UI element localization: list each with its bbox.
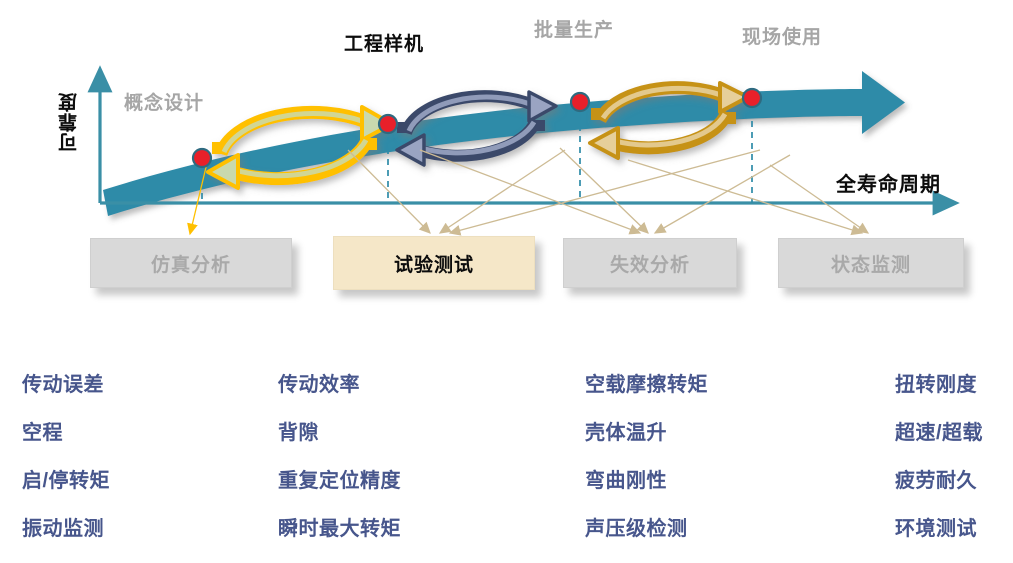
attribute-item: 疲劳耐久 (895, 464, 977, 493)
attribute-grid: 传动误差 空程 启/停转矩 振动监测 传动效率 背隙 重复定位精度 瞬时最大转矩… (0, 340, 1013, 563)
process-box-label: 试验测试 (394, 250, 474, 277)
process-box-label: 状态监测 (831, 250, 911, 277)
attribute-item: 传动效率 (278, 368, 360, 397)
attribute-item: 启/停转矩 (22, 464, 110, 493)
attribute-item: 扭转刚度 (895, 368, 977, 397)
process-box-simulation-analysis[interactable]: 仿真分析 (90, 238, 292, 288)
attribute-item: 背隙 (278, 416, 319, 445)
attribute-item: 环境测试 (895, 512, 977, 541)
attribute-item: 弯曲刚性 (585, 464, 667, 493)
attribute-item: 空程 (22, 416, 63, 445)
stage-label-field-use: 现场使用 (742, 22, 822, 49)
x-axis-label: 全寿命周期 (836, 168, 941, 197)
attribute-item: 声压级检测 (585, 512, 688, 541)
attribute-item: 重复定位精度 (278, 464, 401, 493)
stage-label-concept-design: 概念设计 (124, 88, 204, 115)
y-axis-label: 可靠度 (56, 92, 83, 152)
attribute-item: 传动误差 (22, 368, 104, 397)
attribute-item: 振动监测 (22, 512, 104, 541)
stage-label-mass-production: 批量生产 (534, 15, 614, 42)
process-box-condition-monitoring[interactable]: 状态监测 (778, 238, 964, 288)
slide-canvas: 可靠度 全寿命周期 概念设计 工程样机 批量生产 现场使用 仿真分析 试验测试 … (0, 0, 1013, 563)
process-box-experimental-testing[interactable]: 试验测试 (333, 236, 535, 290)
attribute-item: 瞬时最大转矩 (278, 512, 401, 541)
process-box-label: 失效分析 (610, 250, 690, 277)
stage-label-engineering-prototype: 工程样机 (344, 29, 424, 56)
attribute-item: 壳体温升 (585, 416, 667, 445)
process-box-failure-analysis[interactable]: 失效分析 (563, 238, 737, 288)
process-box-label: 仿真分析 (151, 250, 231, 277)
attribute-item: 超速/超载 (895, 416, 983, 445)
attribute-item: 空载摩擦转矩 (585, 368, 708, 397)
